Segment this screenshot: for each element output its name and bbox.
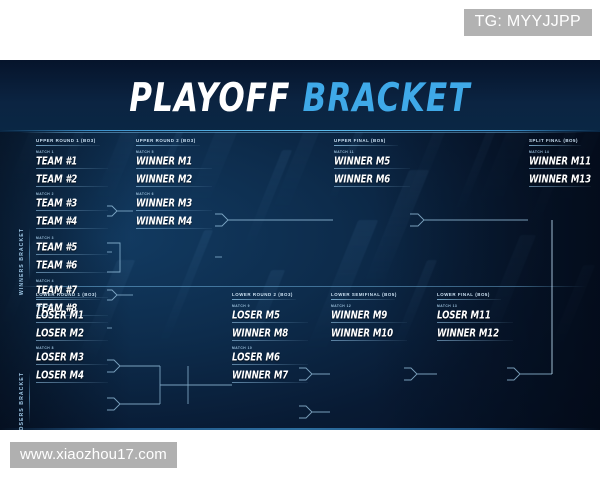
round-header-upper-round-2: UPPER ROUND 2 (BO3) (136, 138, 200, 146)
slot-label: WINNER M10 (331, 327, 393, 339)
slot-winner-m9[interactable]: WINNER M9 (331, 308, 407, 323)
slot-loser-m5[interactable]: LOSER M5 (232, 308, 308, 323)
round-title: SPLIT FINAL (BO5) (529, 138, 581, 143)
slot-winner-m4[interactable]: WINNER M4 (136, 214, 212, 229)
slot-label: TEAM #1 (36, 155, 77, 167)
round-header-split-final: SPLIT FINAL (BO5) (529, 138, 581, 146)
slot-label: WINNER M7 (232, 369, 288, 381)
slot-loser-m1[interactable]: LOSER M1 (36, 308, 108, 323)
round-header-upper-final: UPPER FINAL (BO5) (334, 138, 398, 146)
slot-label: TEAM #2 (36, 173, 77, 185)
slot-label: LOSER M1 (36, 309, 84, 321)
title-playoff: PLAYOFF (129, 76, 290, 121)
slot-label: WINNER M13 (529, 173, 591, 185)
slot-label: WINNER M12 (437, 327, 499, 339)
slot-label: WINNER M8 (232, 327, 288, 339)
round-title: LOWER ROUND 2 (BO3) (232, 292, 296, 297)
slot-label: WINNER M6 (334, 173, 390, 185)
slot-loser-m6[interactable]: LOSER M6 (232, 350, 308, 365)
title-band: PLAYOFF BRACKET (0, 60, 600, 132)
slot-team-2[interactable]: TEAM #2 (36, 172, 108, 187)
round-header-lower-round-2: LOWER ROUND 2 (BO3) (232, 292, 296, 300)
winners-bracket-label: WINNERS BRACKET (19, 228, 25, 295)
slot-label: LOSER M6 (232, 351, 280, 363)
round-title: LOWER FINAL (BO5) (437, 292, 501, 297)
slot-winner-m3[interactable]: WINNER M3 (136, 196, 212, 211)
slot-label: WINNER M9 (331, 309, 387, 321)
round-title: UPPER ROUND 2 (BO3) (136, 138, 200, 143)
slot-label: WINNER M11 (529, 155, 591, 167)
round-title: LOWER SEMIFINAL (BO5) (331, 292, 397, 297)
slot-label: TEAM #4 (36, 215, 77, 227)
slot-label: LOSER M4 (36, 369, 84, 381)
slot-label: WINNER M4 (136, 215, 192, 227)
slot-team-1[interactable]: TEAM #1 (36, 154, 108, 169)
slot-winner-m2[interactable]: WINNER M2 (136, 172, 212, 187)
slot-team-5[interactable]: TEAM #5 (36, 240, 108, 255)
slot-label: LOSER M11 (437, 309, 491, 321)
bracket-panel: PLAYOFF BRACKET WINNERS BRACKET LOSERS B… (0, 60, 600, 430)
telegram-watermark-badge: TG: MYYJJPP (464, 9, 592, 36)
slot-label: LOSER M5 (232, 309, 280, 321)
slot-label: TEAM #6 (36, 259, 77, 271)
slot-winner-m8[interactable]: WINNER M8 (232, 326, 308, 341)
slot-winner-m5[interactable]: WINNER M5 (334, 154, 410, 169)
winners-label-tick (29, 228, 30, 280)
page-title: PLAYOFF BRACKET (0, 76, 600, 121)
slot-team-6[interactable]: TEAM #6 (36, 258, 108, 273)
slot-winner-m1[interactable]: WINNER M1 (136, 154, 212, 169)
round-title: LOWER ROUND 1 (BO3) (36, 292, 100, 297)
slot-winner-m7[interactable]: WINNER M7 (232, 368, 308, 383)
slot-team-3[interactable]: TEAM #3 (36, 196, 108, 211)
slot-winner-m13[interactable]: WINNER M13 (529, 172, 593, 187)
slot-loser-m4[interactable]: LOSER M4 (36, 368, 108, 383)
playoff-bracket-screenshot: PLAYOFF BRACKET WINNERS BRACKET LOSERS B… (0, 0, 600, 480)
round-header-lower-final: LOWER FINAL (BO5) (437, 292, 501, 300)
round-title: UPPER FINAL (BO5) (334, 138, 398, 143)
slot-label: WINNER M1 (136, 155, 192, 167)
slot-label: LOSER M3 (36, 351, 84, 363)
slot-label: TEAM #5 (36, 241, 77, 253)
slot-winner-m12[interactable]: WINNER M12 (437, 326, 513, 341)
slot-label: TEAM #3 (36, 197, 77, 209)
round-header-lower-semifinal: LOWER SEMIFINAL (BO5) (331, 292, 397, 300)
round-title: UPPER ROUND 1 (BO3) (36, 138, 100, 143)
slot-label: WINNER M2 (136, 173, 192, 185)
slot-winner-m11-final[interactable]: WINNER M11 (529, 154, 593, 169)
slot-winner-m10[interactable]: WINNER M10 (331, 326, 407, 341)
divider-top (20, 132, 586, 133)
slot-winner-m6[interactable]: WINNER M6 (334, 172, 410, 187)
slot-loser-m11[interactable]: LOSER M11 (437, 308, 513, 323)
losers-bracket-label: LOSERS BRACKET (19, 372, 25, 430)
bracket-body: WINNERS BRACKET LOSERS BRACKET (0, 132, 600, 430)
round-header-upper-round-1: UPPER ROUND 1 (BO3) (36, 138, 100, 146)
losers-label-tick (29, 372, 30, 424)
title-underline (0, 130, 600, 131)
slot-label: WINNER M3 (136, 197, 192, 209)
slot-loser-m2[interactable]: LOSER M2 (36, 326, 108, 341)
round-header-lower-round-1: LOWER ROUND 1 (BO3) (36, 292, 100, 300)
title-bracket: BRACKET (303, 76, 471, 121)
site-watermark-badge: www.xiaozhou17.com (10, 442, 177, 468)
slot-label: LOSER M2 (36, 327, 84, 339)
slot-loser-m3[interactable]: LOSER M3 (36, 350, 108, 365)
slot-team-4[interactable]: TEAM #4 (36, 214, 108, 229)
slot-label: WINNER M5 (334, 155, 390, 167)
